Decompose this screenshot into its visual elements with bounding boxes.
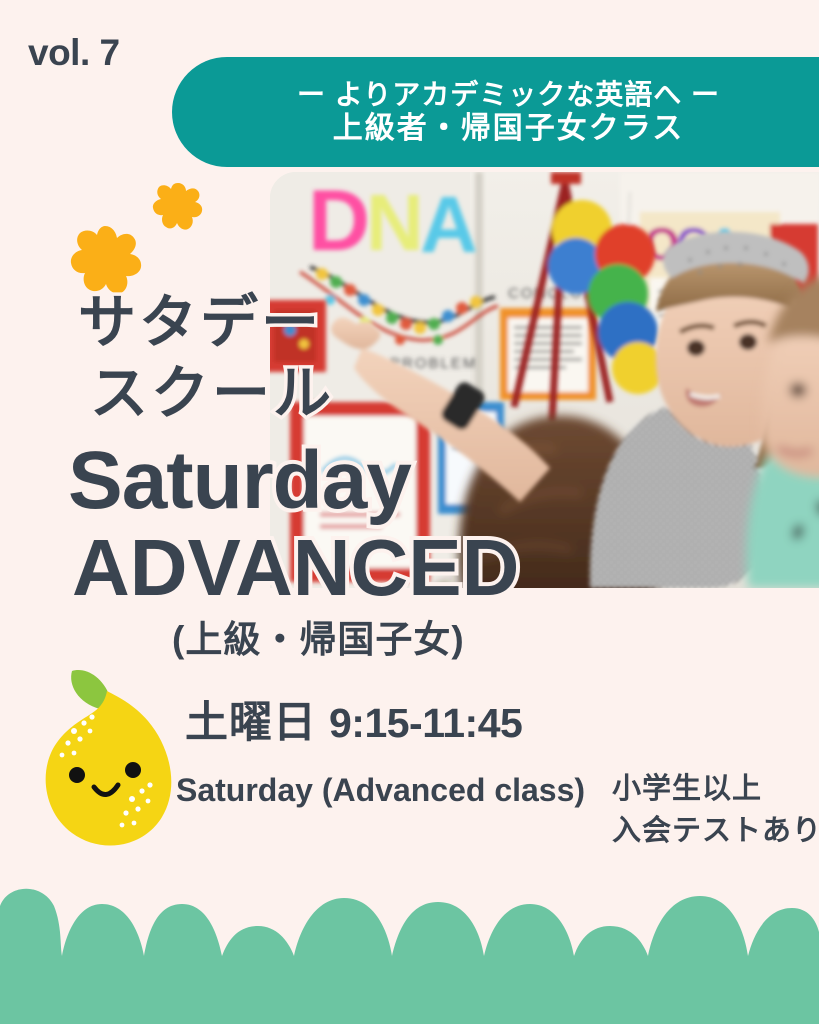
svg-text:A: A	[420, 180, 478, 269]
title-subtitle: (上級・帰国子女)	[0, 618, 560, 662]
banner-line-2: 上級者・帰国子女クラス	[333, 111, 684, 146]
entrance-test-note: 入会テストあり	[612, 817, 819, 846]
poster-canvas: vol. 7 ー よりアカデミックな英語へ ー 上級者・帰国子女クラス	[0, 0, 819, 1024]
banner-line-1: ー よりアカデミックな英語へ ー	[297, 78, 720, 111]
volume-label: vol. 7	[28, 34, 120, 71]
main-title-block: サタデー スクール Saturday ADVANCED (上級・帰国子女)	[0, 288, 560, 663]
eligibility-note: 小学生以上	[612, 775, 762, 804]
header-banner: ー よりアカデミックな英語へ ー 上級者・帰国子女クラス	[172, 57, 819, 167]
schedule-day-time: 土曜日9:15-11:45	[185, 702, 522, 745]
scallop-border-icon	[0, 864, 819, 1024]
title-kana-line-2: スクール	[0, 359, 560, 430]
title-english-advanced: ADVANCED	[0, 526, 560, 611]
lemon-mascot-icon	[32, 655, 182, 855]
schedule-time: 9:15-11:45	[329, 700, 522, 746]
flower-icon-small	[148, 180, 208, 238]
svg-text:D: D	[308, 173, 370, 269]
svg-text:N: N	[366, 178, 424, 267]
title-english-saturday: Saturday	[0, 436, 560, 526]
title-kana-line-1: サタデー	[0, 288, 560, 359]
schedule-day: 土曜日	[185, 699, 317, 747]
schedule-english: Saturday (Advanced class)	[176, 774, 585, 806]
